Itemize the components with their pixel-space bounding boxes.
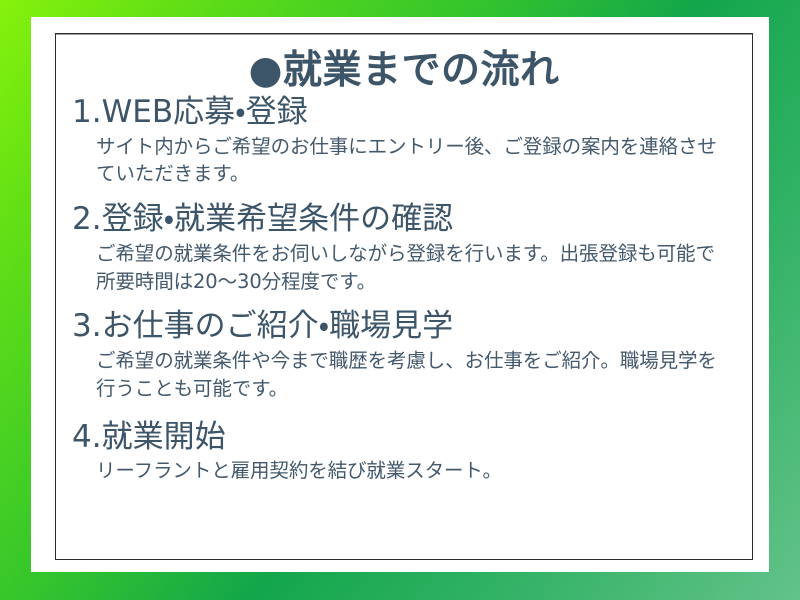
inner-border-frame: ●就業までの流れ 1.WEB応募・登録 サイト内からご希望のお仕事にエントリー後… — [55, 33, 753, 560]
step-item-3: 3.お仕事のご紹介・職場見学 ご希望の就業条件や今まで職歴を考慮し、お仕事をご紹… — [70, 308, 738, 402]
step-4-body: リーフラントと雇用契約を結び就業スタート。 — [96, 457, 738, 485]
step-item-2: 2.登録・就業希望条件の確認 ご希望の就業条件をお伺いしながら登録を行います。出… — [70, 201, 738, 295]
step-item-1: 1.WEB応募・登録 サイト内からご希望のお仕事にエントリー後、ご登録の案内を連… — [70, 94, 738, 188]
step-2-body: ご希望の就業条件をお伺いしながら登録を行います。出張登録も可能で所要時間は20〜… — [96, 240, 738, 295]
step-3-body: ご希望の就業条件や今まで職歴を考慮し、お仕事をご紹介。職場見学を行うことも可能で… — [96, 347, 738, 402]
step-1-body: サイト内からご希望のお仕事にエントリー後、ご登録の案内を連絡させていただきます。 — [96, 133, 738, 188]
white-card: ●就業までの流れ 1.WEB応募・登録 サイト内からご希望のお仕事にエントリー後… — [31, 17, 769, 572]
step-4-heading: 4.就業開始 — [72, 419, 738, 457]
page-title: ●就業までの流れ — [70, 51, 738, 92]
step-1-heading: 1.WEB応募・登録 — [72, 94, 738, 132]
slide-content: ●就業までの流れ 1.WEB応募・登録 サイト内からご希望のお仕事にエントリー後… — [56, 34, 752, 489]
step-2-heading: 2.登録・就業希望条件の確認 — [72, 201, 738, 239]
step-item-4: 4.就業開始 リーフラントと雇用契約を結び就業スタート。 — [70, 419, 738, 486]
step-3-heading: 3.お仕事のご紹介・職場見学 — [72, 308, 738, 346]
slide-root: ●就業までの流れ 1.WEB応募・登録 サイト内からご希望のお仕事にエントリー後… — [0, 0, 800, 600]
